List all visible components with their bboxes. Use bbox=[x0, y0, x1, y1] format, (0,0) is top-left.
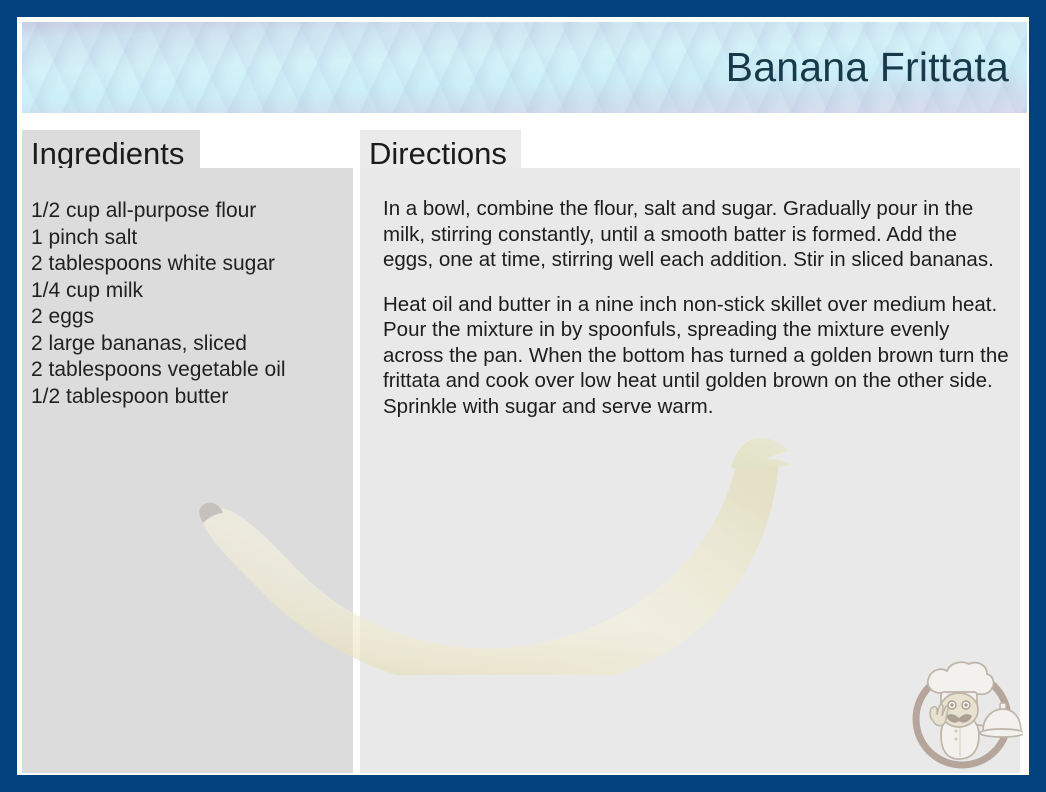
slide-canvas: Banana Frittata Ingredients 1/2 cup all-… bbox=[17, 17, 1029, 775]
recipe-slide: Banana Frittata Ingredients 1/2 cup all-… bbox=[0, 0, 1046, 792]
list-item: 1/4 cup milk bbox=[31, 278, 351, 305]
list-item: 2 eggs bbox=[31, 304, 351, 331]
list-item: 1/2 cup all-purpose flour bbox=[31, 198, 351, 225]
ingredients-list: 1/2 cup all-purpose flour 1 pinch salt 2… bbox=[31, 198, 351, 410]
list-item: 1/2 tablespoon butter bbox=[31, 384, 351, 411]
title-banner: Banana Frittata bbox=[22, 22, 1027, 113]
ingredients-panel: 1/2 cup all-purpose flour 1 pinch salt 2… bbox=[22, 168, 353, 773]
directions-paragraph: Heat oil and butter in a nine inch non-s… bbox=[383, 292, 1011, 420]
directions-panel: In a bowl, combine the flour, salt and s… bbox=[360, 168, 1020, 773]
recipe-title: Banana Frittata bbox=[726, 42, 1009, 92]
directions-paragraph: In a bowl, combine the flour, salt and s… bbox=[383, 196, 1011, 273]
list-item: 1 pinch salt bbox=[31, 225, 351, 252]
directions-text: In a bowl, combine the flour, salt and s… bbox=[383, 196, 1011, 419]
list-item: 2 tablespoons vegetable oil bbox=[31, 357, 351, 384]
list-item: 2 large bananas, sliced bbox=[31, 331, 351, 358]
list-item: 2 tablespoons white sugar bbox=[31, 251, 351, 278]
